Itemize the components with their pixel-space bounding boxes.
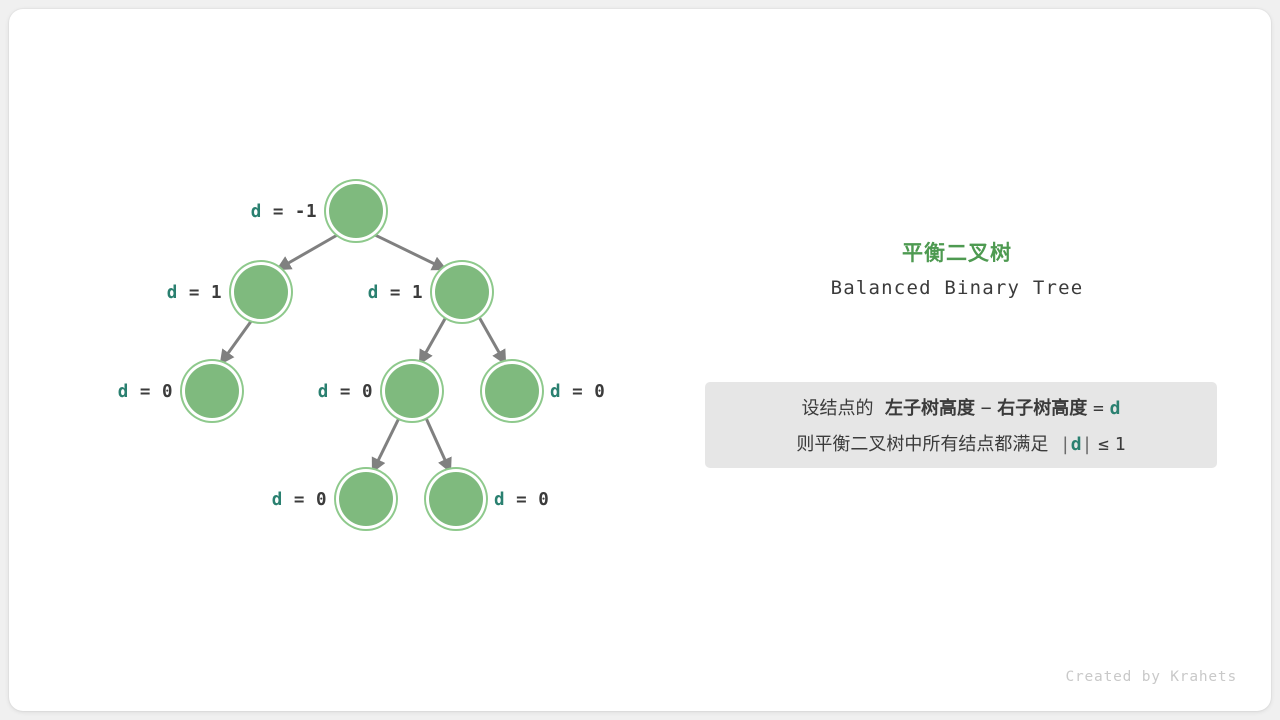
- definition-variable-d: d: [1071, 434, 1082, 455]
- tree-node-left[interactable]: [234, 265, 288, 319]
- node-label-variable: d: [167, 283, 178, 303]
- node-label-variable: d: [550, 382, 561, 402]
- equals-sign: =: [1093, 398, 1104, 419]
- tree-node-right[interactable]: [435, 265, 489, 319]
- node-label-variable: d: [251, 202, 262, 222]
- binary-tree-diagram: d = -1 d = 1 d = 1 d = 0 d =: [9, 9, 669, 609]
- node-label-variable: d: [272, 490, 283, 510]
- abs-bar-open: |: [1060, 434, 1071, 455]
- node-label-left-left: d = 0: [49, 384, 173, 402]
- node-label-value: 0: [594, 382, 605, 402]
- screenshot-stage: d = -1 d = 1 d = 1 d = 0 d =: [0, 0, 1280, 720]
- definition-line-2: 则平衡二叉树中所有结点都满足 |d| ≤ 1: [705, 436, 1217, 454]
- tree-node-right-left[interactable]: [385, 364, 439, 418]
- node-label-equals: =: [572, 382, 583, 402]
- node-label-right: d = 1: [299, 285, 423, 303]
- node-label-right-left-right: d = 0: [494, 492, 618, 510]
- node-label-value: 0: [316, 490, 327, 510]
- definition-panel: 设结点的 左子树高度 − 右子树高度 = d 则平衡二叉树中所有结点都满足 |d…: [705, 382, 1217, 468]
- bound-value: 1: [1115, 434, 1126, 455]
- definition-line-1: 设结点的 左子树高度 − 右子树高度 = d: [705, 400, 1217, 418]
- node-label-right-right: d = 0: [550, 384, 674, 402]
- node-label-left: d = 1: [99, 285, 222, 303]
- node-label-equals: =: [273, 202, 284, 222]
- node-label-equals: =: [294, 490, 305, 510]
- node-label-equals: =: [516, 490, 527, 510]
- page-title: 平衡二叉树: [699, 237, 1215, 267]
- definition-right-subtree-height: 右子树高度: [997, 398, 1087, 419]
- node-label-right-left: d = 0: [249, 384, 373, 402]
- tree-edge: [221, 320, 252, 363]
- tree-edge: [373, 418, 399, 471]
- node-label-variable: d: [368, 283, 379, 303]
- tree-edge: [426, 418, 450, 471]
- tree-node-right-left-right[interactable]: [429, 472, 483, 526]
- tree-node-right-right[interactable]: [485, 364, 539, 418]
- tree-edge: [420, 317, 446, 363]
- tree-edge: [479, 317, 505, 363]
- node-label-variable: d: [494, 490, 505, 510]
- credit-text: Created by Krahets: [1065, 669, 1237, 685]
- tree-node-right-left-left[interactable]: [339, 472, 393, 526]
- tree-edge: [278, 234, 339, 269]
- node-label-right-left-left: d = 0: [203, 492, 327, 510]
- tree-node-root[interactable]: [329, 184, 383, 238]
- node-label-equals: =: [189, 283, 200, 303]
- node-label-value: 1: [412, 283, 423, 303]
- node-label-value: 0: [538, 490, 549, 510]
- abs-bar-close: |: [1082, 434, 1093, 455]
- node-label-value: -1: [295, 202, 317, 222]
- node-label-value: 0: [162, 382, 173, 402]
- node-label-equals: =: [390, 283, 401, 303]
- definition-left-subtree-height: 左子树高度: [885, 398, 975, 419]
- node-label-variable: d: [318, 382, 329, 402]
- page-subtitle: Balanced Binary Tree: [699, 277, 1215, 299]
- less-equal-sign: ≤: [1098, 434, 1109, 455]
- definition-variable-d: d: [1110, 398, 1121, 419]
- minus-sign: −: [981, 398, 992, 419]
- definition-statement: 则平衡二叉树中所有结点都满足: [796, 434, 1048, 455]
- node-label-equals: =: [340, 382, 351, 402]
- content-card: d = -1 d = 1 d = 1 d = 0 d =: [9, 9, 1271, 711]
- tree-edge: [373, 234, 445, 269]
- node-label-variable: d: [118, 382, 129, 402]
- node-label-equals: =: [140, 382, 151, 402]
- tree-node-left-left[interactable]: [185, 364, 239, 418]
- node-label-root: d = -1: [189, 204, 317, 222]
- node-label-value: 0: [362, 382, 373, 402]
- node-label-value: 1: [211, 283, 222, 303]
- tree-edges: [9, 9, 669, 609]
- definition-prefix: 设结点的: [802, 398, 874, 419]
